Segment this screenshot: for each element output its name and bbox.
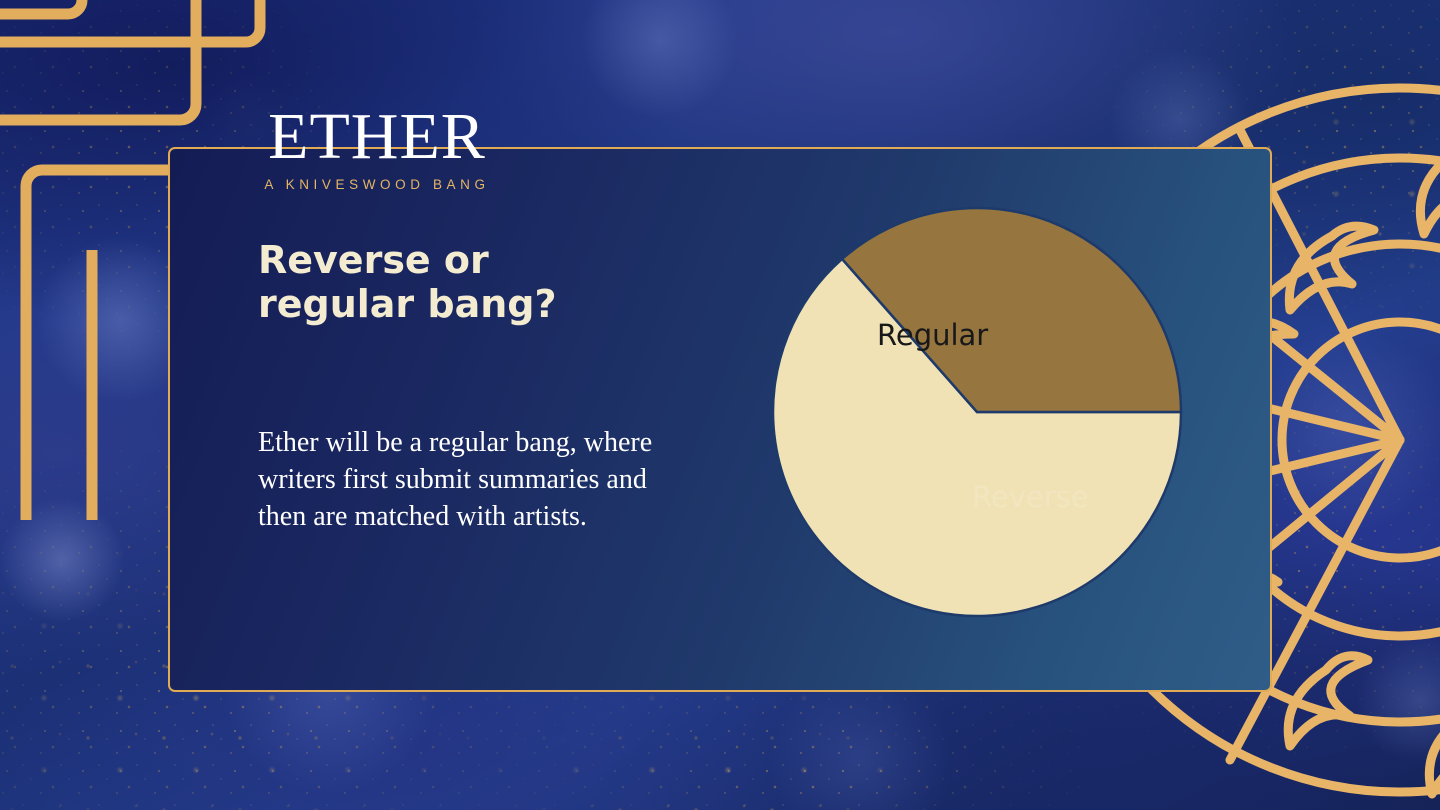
pie-slice-label-reverse: Reverse [972,480,1089,514]
pie-chart-svg [767,202,1187,622]
brand-wordmark: ETHER [252,104,502,170]
slide-canvas: ETHER A KNIVESWOOD BANG Reverse or regul… [0,0,1440,810]
brand-tagline: A KNIVESWOOD BANG [252,177,502,192]
brand-logo: ETHER A KNIVESWOOD BANG [252,104,502,192]
page-title: Reverse or regular bang? [258,238,658,327]
pie-chart: Regular Reverse [767,202,1187,622]
body-paragraph: Ether will be a regular bang, where writ… [258,424,688,536]
pie-slice-label-regular: Regular [877,318,988,352]
